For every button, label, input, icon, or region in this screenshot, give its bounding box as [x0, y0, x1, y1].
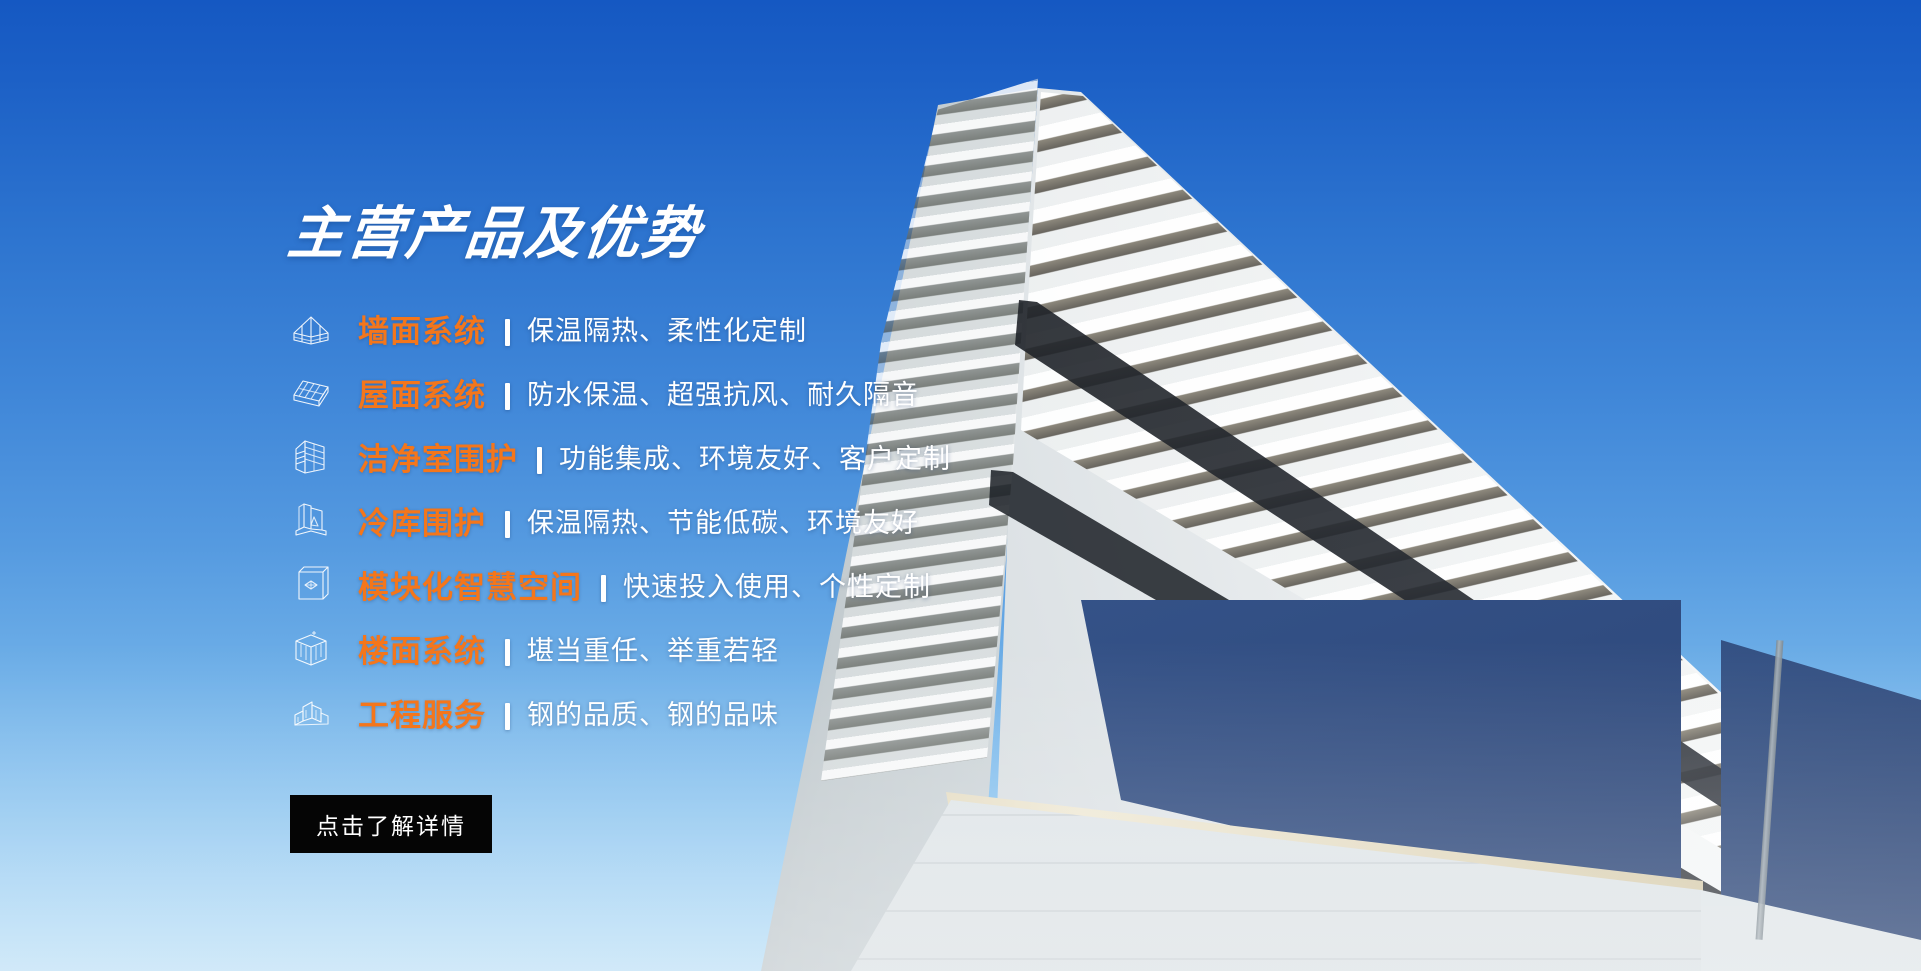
product-features: 保温隔热、柔性化定制: [527, 309, 807, 348]
product-features: 堪当重任、举重若轻: [527, 629, 779, 668]
list-item[interactable]: 工程服务 钢的品质、钢的品味: [290, 680, 1190, 744]
product-name: 洁净室围护: [358, 434, 518, 479]
roof-system-icon: [290, 371, 332, 413]
product-features: 防水保温、超强抗风、耐久隔音: [527, 373, 919, 412]
product-name: 冷库围护: [358, 498, 486, 543]
page-title: 主营产品及优势: [285, 206, 704, 263]
product-list: 墙面系统 保温隔热、柔性化定制 屋面系统: [290, 296, 1190, 744]
separator-bar: [537, 447, 542, 474]
separator-bar: [601, 575, 606, 602]
separator-bar: [505, 639, 510, 666]
engineering-service-icon: [290, 691, 332, 733]
separator-bar: [505, 319, 510, 346]
cold-storage-enclosure-icon: [290, 499, 332, 541]
product-name: 模块化智慧空间: [358, 562, 582, 607]
list-item[interactable]: 屋面系统 防水保温、超强抗风、耐久隔音: [290, 360, 1190, 424]
product-name: 楼面系统: [358, 626, 486, 671]
separator-bar: [505, 511, 510, 538]
separator-bar: [505, 383, 510, 410]
list-item[interactable]: 墙面系统 保温隔热、柔性化定制: [290, 296, 1190, 360]
modular-smart-space-icon: [290, 563, 332, 605]
product-name: 墙面系统: [358, 306, 486, 351]
banner-content: 主营产品及优势 墙面系统 保温隔热、柔性化定制: [0, 0, 900, 971]
list-item[interactable]: 楼面系统 堪当重任、举重若轻: [290, 616, 1190, 680]
product-name: 屋面系统: [358, 370, 486, 415]
product-features: 保温隔热、节能低碳、环境友好: [527, 501, 919, 540]
separator-bar: [505, 703, 510, 730]
product-name: 工程服务: [358, 690, 486, 735]
learn-more-button[interactable]: 点击了解详情: [290, 795, 492, 853]
wall-system-icon: [290, 307, 332, 349]
list-item[interactable]: 洁净室围护 功能集成、环境友好、客户定制: [290, 424, 1190, 488]
floor-system-icon: [290, 627, 332, 669]
list-item[interactable]: 冷库围护 保温隔热、节能低碳、环境友好: [290, 488, 1190, 552]
product-features: 钢的品质、钢的品味: [527, 693, 779, 732]
product-features: 功能集成、环境友好、客户定制: [559, 437, 951, 476]
product-features: 快速投入使用、个性定制: [623, 565, 931, 604]
list-item[interactable]: 模块化智慧空间 快速投入使用、个性定制: [290, 552, 1190, 616]
cleanroom-enclosure-icon: [290, 435, 332, 477]
hero-banner: 主营产品及优势 墙面系统 保温隔热、柔性化定制: [0, 0, 1921, 971]
